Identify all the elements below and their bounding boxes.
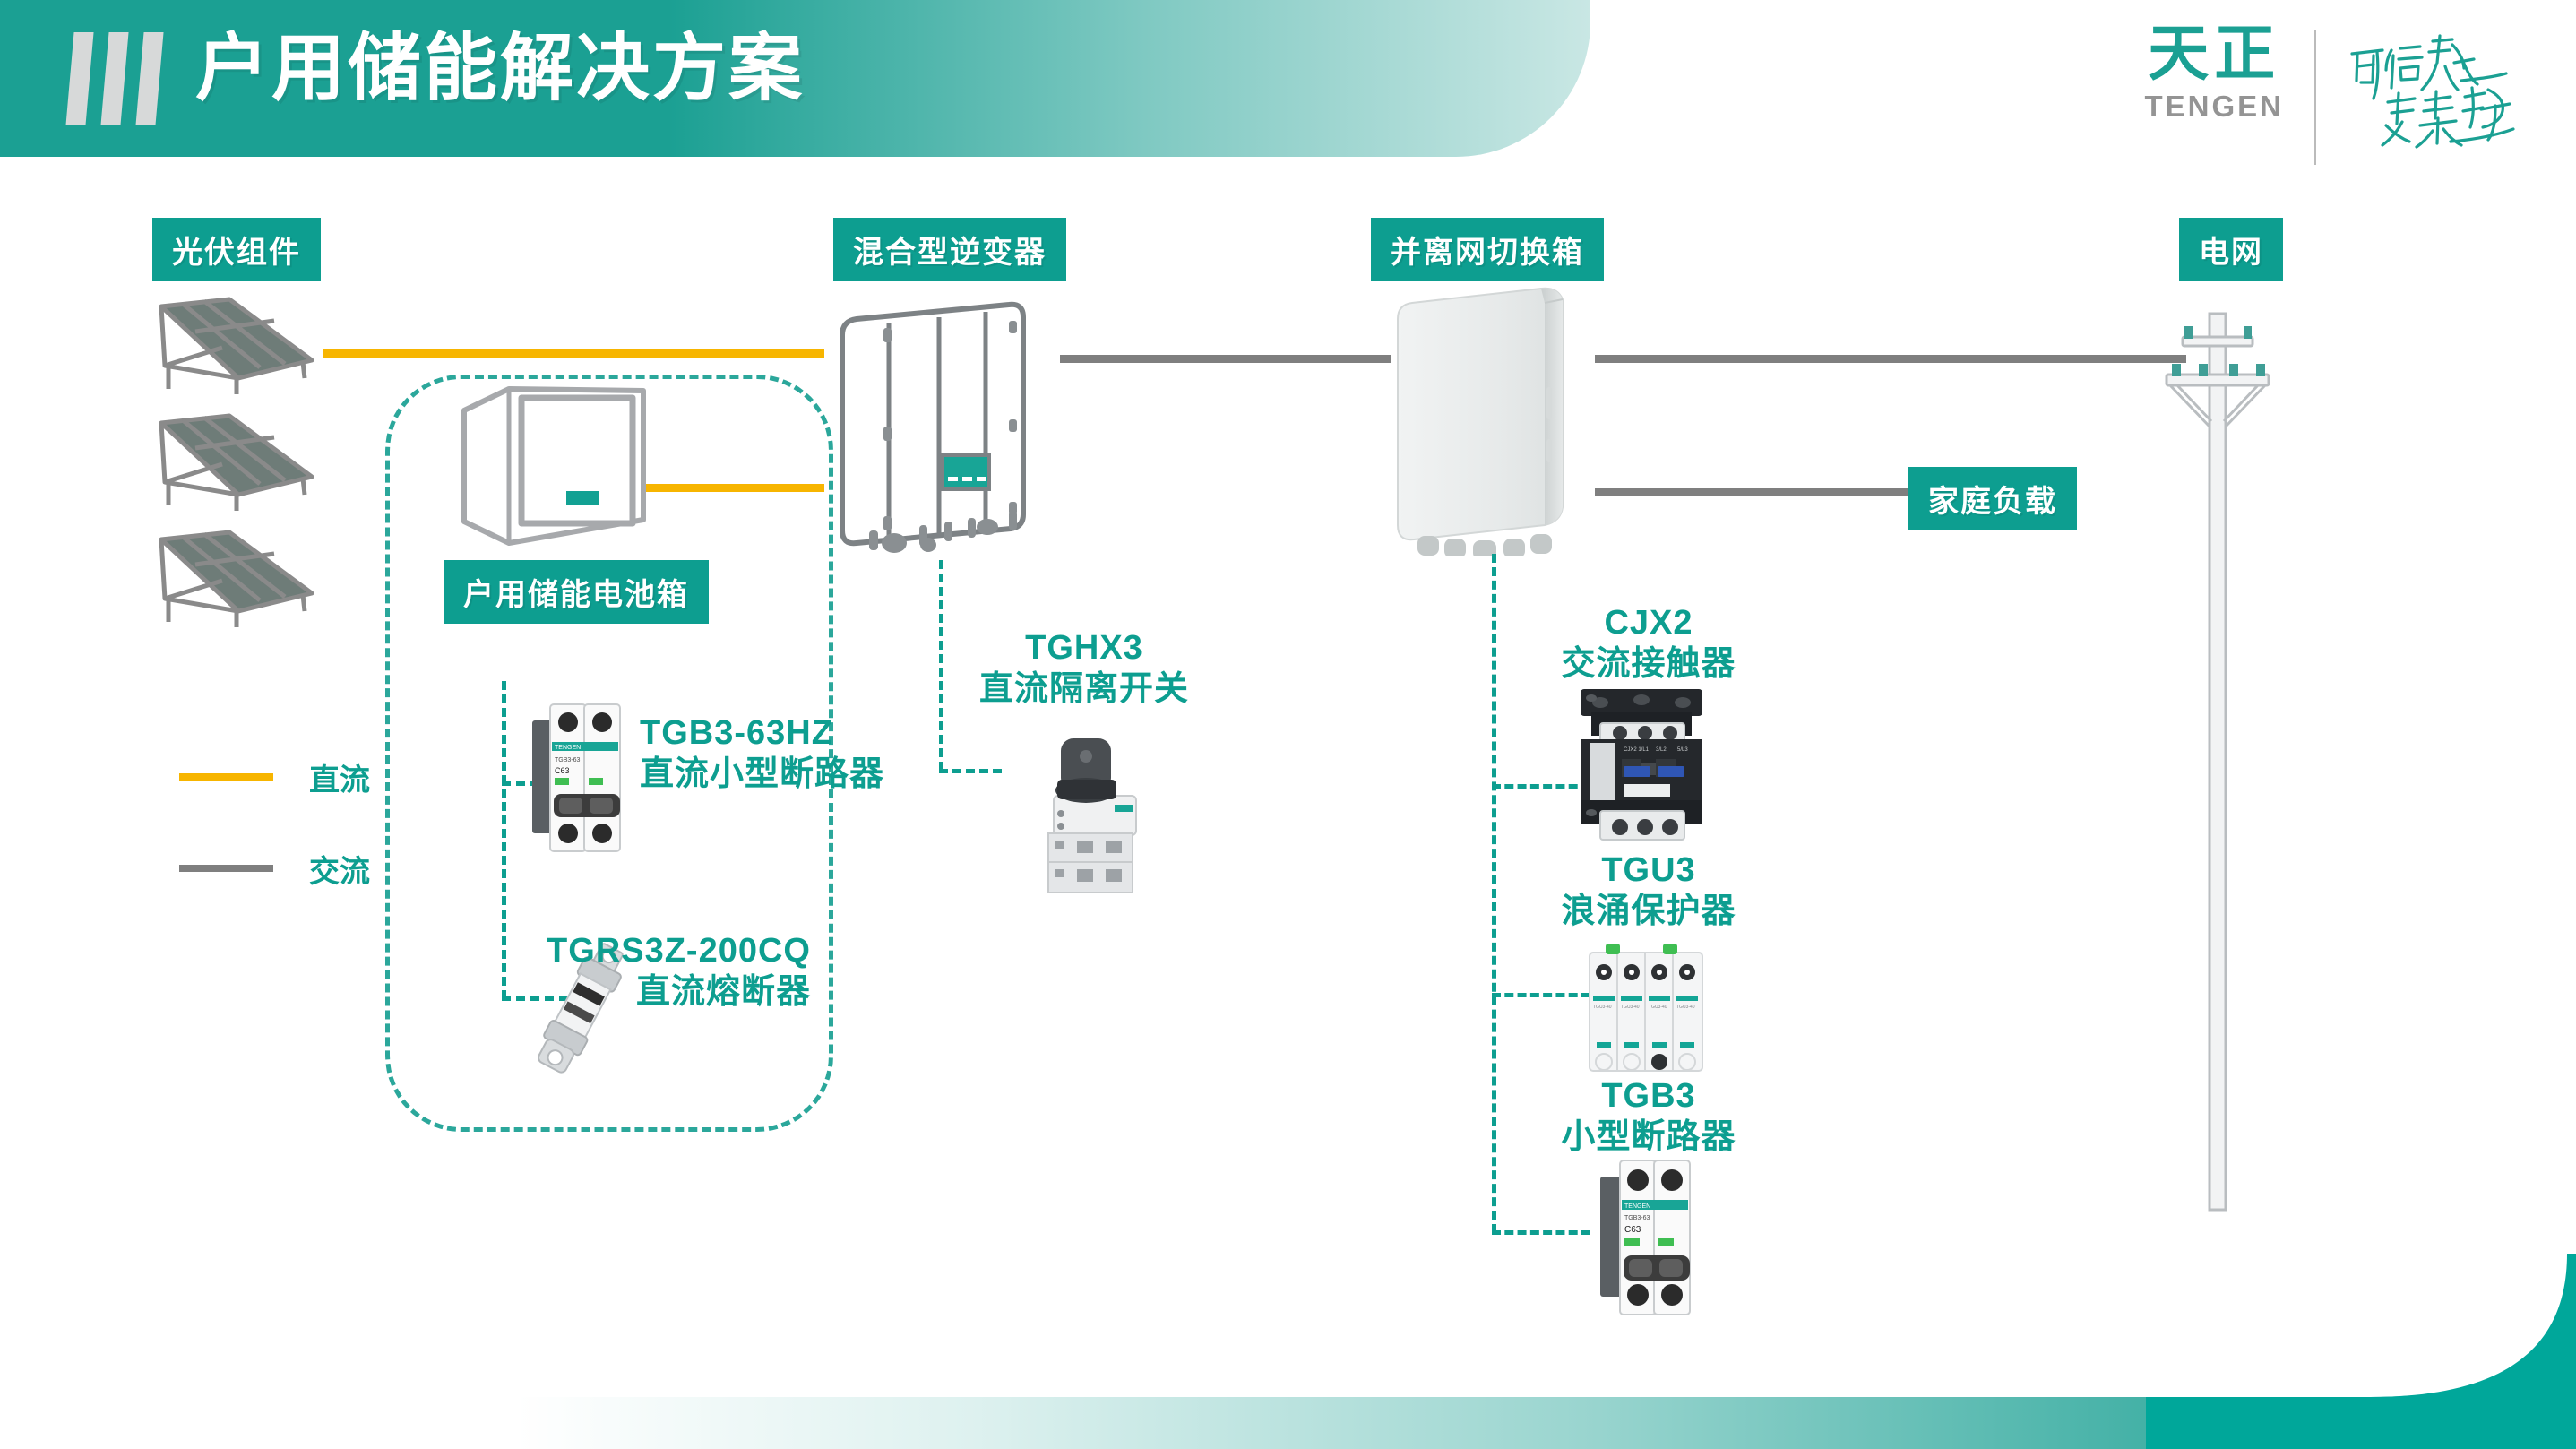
product-desc: 交流接触器: [1452, 643, 1846, 685]
surge-protector-icon: TGU3-40TGU3-40 TGU3-40TGU3-40: [1584, 936, 1710, 1089]
solar-panel-icon: [151, 412, 321, 520]
ac-line-inverter-to-switchbox: [1060, 355, 1391, 363]
dc-line-pv-to-inverter: [323, 349, 824, 358]
product-code: CJX2: [1452, 602, 1846, 643]
svg-text:3/L2: 3/L2: [1656, 747, 1667, 753]
svg-text:TGB3-63: TGB3-63: [555, 757, 581, 763]
product-desc: 直流隔离开关: [896, 668, 1272, 710]
product-label-tgb3-63hz: TGB3-63HZ 直流小型断路器: [640, 712, 884, 796]
svg-text:TGU3-40: TGU3-40: [1649, 1005, 1667, 1010]
svg-text:TGU3-40: TGU3-40: [1676, 1005, 1695, 1010]
product-desc: 直流熔断器: [340, 971, 811, 1013]
badge-grid: 电网: [2179, 218, 2283, 281]
svg-text:TGU3-40: TGU3-40: [1621, 1005, 1640, 1010]
legend-item-ac: 交流: [179, 844, 370, 893]
product-label-tgrs3z-200cq: TGRS3Z-200CQ 直流熔断器: [340, 930, 811, 1013]
dc-line-swatch: [179, 773, 273, 781]
svg-text:TENGEN: TENGEN: [555, 745, 581, 751]
switchbox-icon: [1391, 287, 1597, 560]
badge-hybrid-inverter: 混合型逆变器: [833, 218, 1066, 281]
switchbox-branch-to-spd: [1492, 993, 1590, 997]
inverter-branch-to-isolator: [939, 769, 1002, 773]
logo-slogan-handwriting: [2347, 32, 2526, 162]
three-bars-icon: [70, 32, 159, 125]
ac-line-swatch: [179, 865, 273, 872]
svg-text:TENGEN: TENGEN: [1624, 1203, 1650, 1210]
product-code: TGB3: [1452, 1075, 1846, 1117]
product-code: TGRS3Z-200CQ: [340, 930, 811, 971]
product-label-cjx2: CJX2 交流接触器: [1452, 602, 1846, 686]
ac-contactor-icon: CJX2 1/L1 3/L2 5/L3: [1570, 686, 1713, 856]
header-banner: 户用储能解决方案: [0, 0, 1590, 157]
logo-chinese-name: 天正: [2148, 23, 2280, 84]
svg-text:C63: C63: [555, 766, 570, 775]
product-code: TGU3: [1452, 850, 1846, 891]
product-code: TGB3-63HZ: [640, 712, 884, 754]
product-desc: 直流小型断路器: [640, 754, 884, 795]
switchbox-branch-to-breaker: [1492, 1230, 1590, 1235]
legend-label: 交流: [309, 847, 370, 891]
product-code: TGHX3: [896, 627, 1272, 668]
svg-text:C63: C63: [1624, 1225, 1641, 1235]
poster-canvas: 户用储能解决方案 天正 TENGEN: [0, 0, 2576, 1449]
product-desc: 浪涌保护器: [1452, 891, 1846, 932]
badge-transfer-switchbox: 并离网切换箱: [1371, 218, 1604, 281]
battery-cabinet-icon: [457, 384, 650, 558]
inverter-icon: [833, 296, 1066, 560]
ac-line-switchbox-to-home-load: [1595, 488, 1908, 496]
dc-isolator-switch-icon: [1021, 728, 1156, 902]
badge-pv-array: 光伏组件: [152, 218, 321, 281]
footer-corner-curve: [2146, 1254, 2576, 1449]
logo-mark: 天正 TENGEN: [2144, 23, 2284, 124]
logo-english-name: TENGEN: [2144, 90, 2284, 124]
product-label-tghx3: TGHX3 直流隔离开关: [896, 627, 1272, 711]
svg-text:CJX2 1/L1: CJX2 1/L1: [1624, 747, 1650, 753]
product-label-tgu3: TGU3 浪涌保护器: [1452, 850, 1846, 933]
product-label-tgb3: TGB3 小型断路器: [1452, 1075, 1846, 1159]
page-title: 户用储能解决方案: [195, 23, 805, 116]
legend-item-dc: 直流: [179, 753, 370, 801]
logo-divider: [2314, 30, 2316, 165]
legend-label: 直流: [309, 755, 370, 799]
svg-text:TGU3-40: TGU3-40: [1593, 1005, 1612, 1010]
miniature-circuit-breaker-icon: TENGEN TGB3-63 C63: [1595, 1151, 1698, 1326]
svg-text:TGB3-63: TGB3-63: [1624, 1215, 1650, 1221]
svg-text:5/L3: 5/L3: [1677, 747, 1688, 753]
ac-line-switchbox-to-grid: [1595, 355, 2186, 363]
legend: 直流 交流: [179, 753, 370, 936]
dc-miniature-circuit-breaker-icon: TENGEN TGB3-63 C63: [527, 697, 625, 863]
brand-logo: 天正 TENGEN: [2144, 23, 2526, 165]
power-pole-icon: [2159, 296, 2276, 1223]
badge-home-load: 家庭负载: [1908, 467, 2077, 530]
solar-panel-icon: [151, 529, 321, 636]
solar-panel-icon: [151, 296, 321, 403]
